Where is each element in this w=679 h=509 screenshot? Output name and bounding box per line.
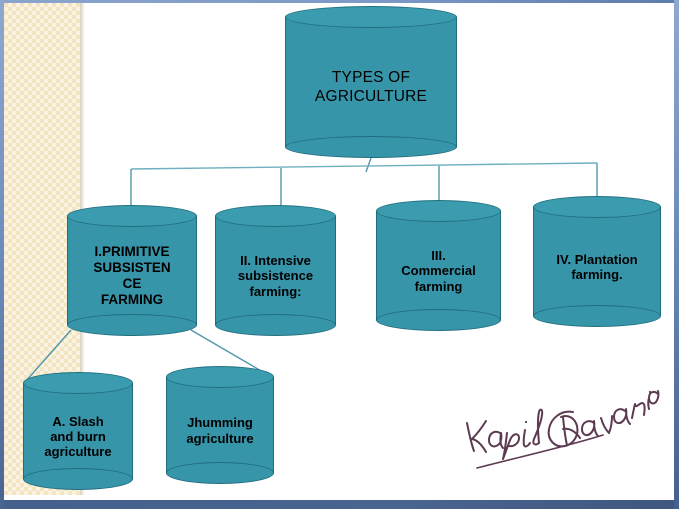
node-label: I.PRIMITIVE SUBSISTEN CE FARMING xyxy=(67,227,197,325)
node-label: II. Intensive subsistence farming: xyxy=(215,227,336,325)
signature-kapil-ravania: Kapil Ravania xyxy=(455,385,660,480)
cylinder-top-cap xyxy=(533,196,661,218)
node-slash-and-burn-agriculture[interactable]: A. Slash and burn agriculture xyxy=(23,372,133,490)
cylinder-top-cap xyxy=(23,372,133,394)
node-commercial-farming[interactable]: III. Commercial farming xyxy=(376,200,501,331)
node-label: TYPES OF AGRICULTURE xyxy=(285,28,457,147)
connector-bus xyxy=(131,163,597,169)
node-intensive-subsistence-farming[interactable]: II. Intensive subsistence farming: xyxy=(215,205,336,336)
slide-canvas: TYPES OF AGRICULTURE I.PRIMITIVE SUBSIST… xyxy=(0,0,679,509)
node-jhumming-agriculture[interactable]: Jhumming agriculture xyxy=(166,366,274,484)
node-types-of-agriculture[interactable]: TYPES OF AGRICULTURE xyxy=(285,6,457,158)
node-label: III. Commercial farming xyxy=(376,222,501,320)
node-label: IV. Plantation farming. xyxy=(533,218,661,316)
cylinder-top-cap xyxy=(215,205,336,227)
node-label: A. Slash and burn agriculture xyxy=(23,394,133,479)
cylinder-top-cap xyxy=(285,6,457,28)
connector-root-stem xyxy=(366,158,371,172)
node-label: Jhumming agriculture xyxy=(166,388,274,473)
cylinder-top-cap xyxy=(67,205,197,227)
cylinder-top-cap xyxy=(166,366,274,388)
node-plantation-farming[interactable]: IV. Plantation farming. xyxy=(533,196,661,327)
node-primitive-subsistence-farming[interactable]: I.PRIMITIVE SUBSISTEN CE FARMING xyxy=(67,205,197,336)
cylinder-top-cap xyxy=(376,200,501,222)
